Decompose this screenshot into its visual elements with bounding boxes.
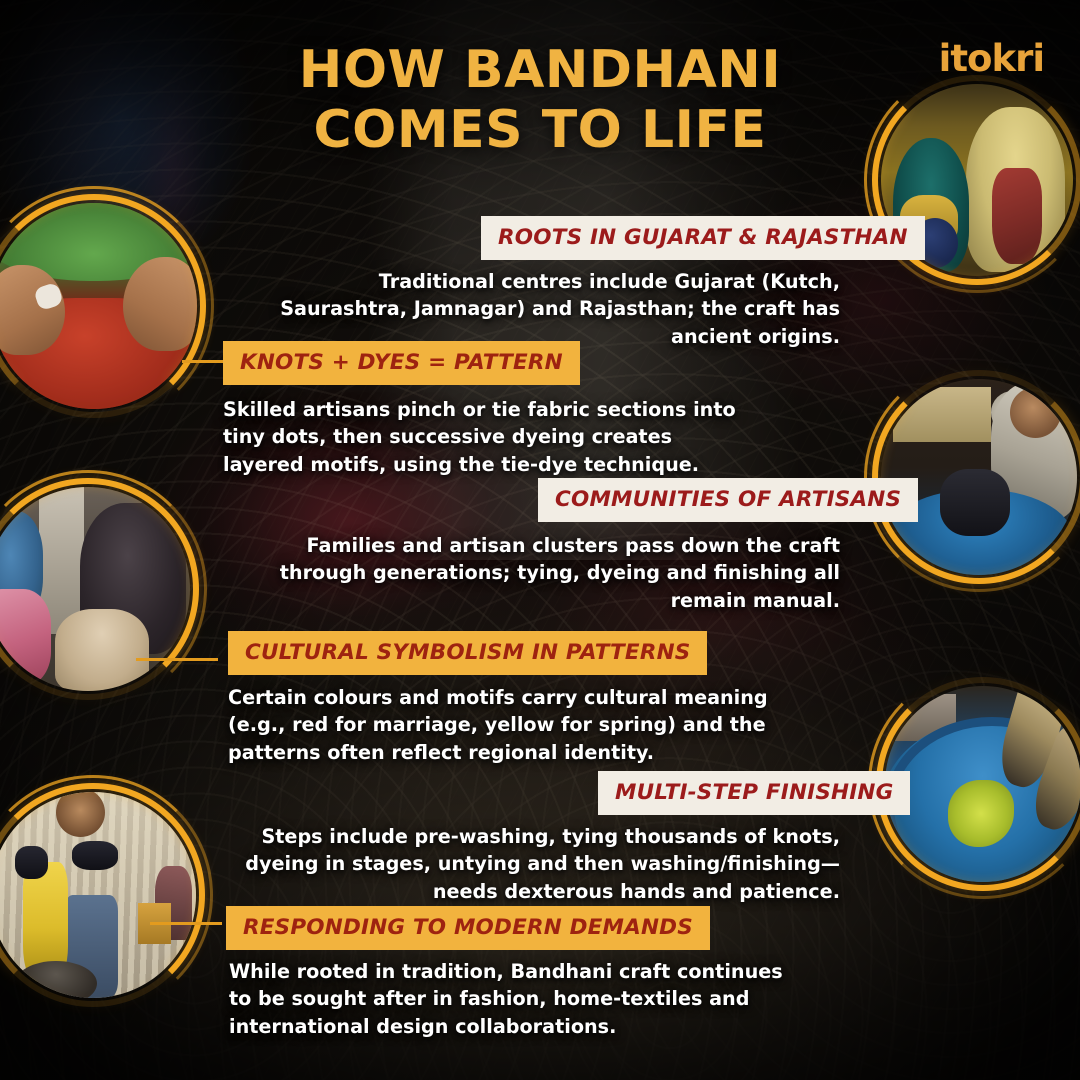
bandhani-infographic-poster: itokri HOW BANDHANI COMES TO LIFE (0, 0, 1080, 1080)
photo-6-dye-pot (15, 961, 97, 998)
photo-6-left-glove (15, 846, 48, 879)
photo-2-content (0, 203, 197, 409)
section-body-finishing: Steps include pre-washing, tying thousan… (240, 823, 840, 905)
section-label-communities[interactable]: COMMUNITIES OF ARTISANS (538, 478, 918, 522)
photo-5-content (885, 686, 1080, 882)
photo-4-pink-sari (0, 589, 51, 687)
section-body-modern-demands: While rooted in tradition, Bandhani craf… (229, 958, 785, 1040)
photo-3-gloves (940, 469, 1011, 536)
section-body-roots: Traditional centres include Gujarat (Kut… (260, 268, 840, 350)
photo-2-right-hand (123, 257, 197, 352)
section-label-symbolism[interactable]: CULTURAL SYMBOLISM IN PATTERNS (228, 631, 707, 675)
photo-blue-dye-vat-with-yellow-fabric (885, 686, 1080, 882)
photo-hands-tying-red-fabric (0, 203, 197, 409)
section-body-knots-dyes: Skilled artisans pinch or tie fabric sec… (223, 396, 753, 478)
section-body-symbolism: Certain colours and motifs carry cultura… (228, 684, 768, 766)
photo-3-content (881, 379, 1077, 575)
connector-line-symbolism (136, 658, 218, 661)
photo-3-artisan-face (1010, 387, 1061, 438)
section-label-finishing[interactable]: MULTI-STEP FINISHING (598, 771, 910, 815)
section-label-roots[interactable]: ROOTS IN GUJARAT & RAJASTHAN (481, 216, 925, 260)
photo-1-red-cloth (992, 168, 1042, 264)
photo-6-right-glove (72, 841, 117, 870)
connector-line-modern-demands (150, 922, 222, 925)
photo-dyer-lifting-yellow-skein (0, 792, 196, 998)
photo-dyer-with-gloves-at-blue-tub (881, 379, 1077, 575)
photo-3-signboard (893, 387, 991, 442)
section-body-communities: Families and artisan clusters pass down … (244, 532, 840, 614)
title-line-1: HOW BANDHANI (299, 40, 781, 100)
section-label-modern-demands[interactable]: RESPONDING TO MODERN DEMANDS (226, 906, 710, 950)
photo-6-content (0, 792, 196, 998)
section-label-knots-dyes[interactable]: KNOTS + DYES = PATTERN (223, 341, 580, 385)
photo-4-cream-fabric (55, 609, 149, 691)
